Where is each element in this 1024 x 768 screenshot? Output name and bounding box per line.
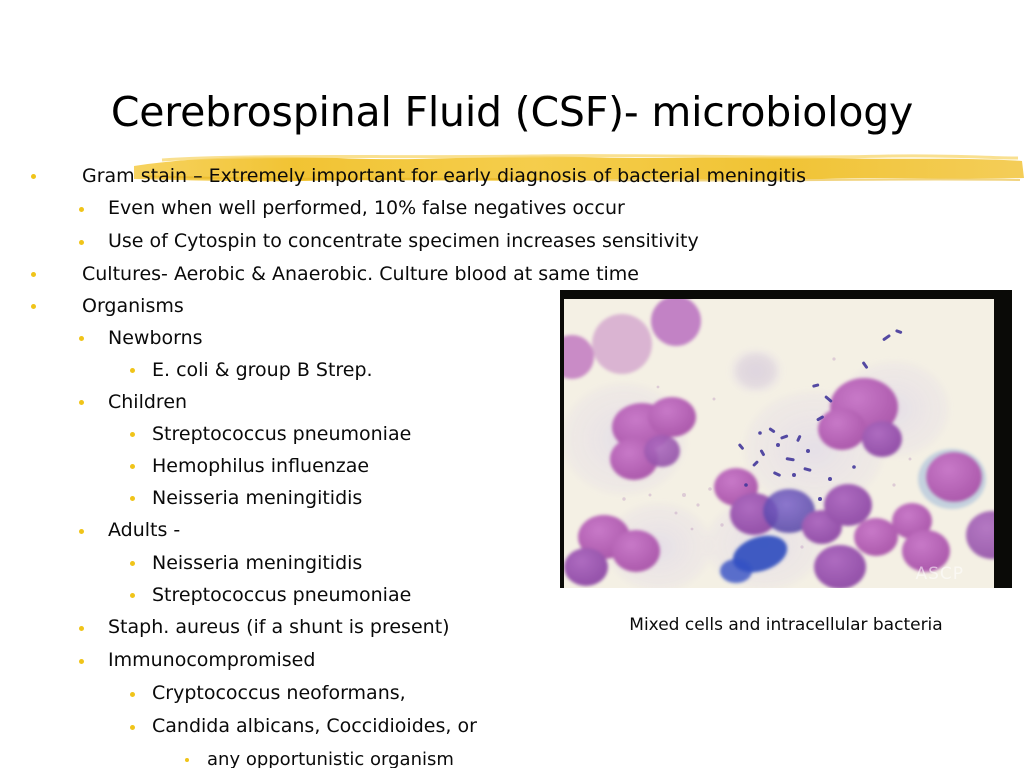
list-item-label: Even when well performed, 10% false nega… <box>108 192 625 225</box>
list-item-label: E. coli & group B Strep. <box>152 354 373 386</box>
list-item-label: Streptococcus pneumoniae <box>152 418 411 450</box>
bullet-dot-icon <box>130 692 135 697</box>
bullet-dot-icon <box>130 432 135 437</box>
bullet-dot-icon <box>31 304 36 309</box>
bullet-dot-icon <box>130 725 135 730</box>
list-item-label: Children <box>108 386 187 418</box>
list-item: Even when well performed, 10% false nega… <box>0 192 1024 225</box>
bullet-dot-icon <box>185 758 189 762</box>
bullet-dot-icon <box>79 400 84 405</box>
bullet-dot-icon <box>31 174 36 179</box>
bullet-dot-icon <box>79 336 84 341</box>
list-item-label: Immunocompromised <box>108 644 315 677</box>
bullet-dot-icon <box>130 593 135 598</box>
micrograph-figure: ASCP <box>560 290 1012 588</box>
bullet-dot-icon <box>79 659 84 664</box>
list-item: Cultures- Aerobic & Anaerobic. Culture b… <box>0 258 1024 290</box>
bullet-dot-icon <box>130 464 135 469</box>
list-item-label: any opportunistic organism <box>207 743 454 768</box>
list-item-label: Cryptococcus neoformans, <box>152 677 406 710</box>
slide-canvas: Cerebrospinal Fluid (CSF)- microbiology … <box>0 0 1024 768</box>
list-item-label: Cultures- Aerobic & Anaerobic. Culture b… <box>82 258 639 290</box>
bullet-dot-icon <box>130 561 135 566</box>
list-item-label: Hemophilus influenzae <box>152 450 369 482</box>
list-item-label: Neisseria meningitidis <box>152 547 362 579</box>
list-item-label: Adults - <box>108 514 180 547</box>
bullet-dot-icon <box>130 496 135 501</box>
figure-caption: Mixed cells and intracellular bacteria <box>560 615 1012 635</box>
list-item-label: Organisms <box>82 290 184 322</box>
list-item: Use of Cytospin to concentrate specimen … <box>0 225 1024 258</box>
list-item: Candida albicans, Coccidioides, or <box>0 710 1024 743</box>
bullet-dot-icon <box>130 368 135 373</box>
list-item-label: Candida albicans, Coccidioides, or <box>152 710 477 743</box>
list-item-label: Gram stain – Extremely important for ear… <box>82 160 806 192</box>
bullet-dot-icon <box>79 529 84 534</box>
list-item: Immunocompromised <box>0 644 1024 677</box>
page-title: Cerebrospinal Fluid (CSF)- microbiology <box>0 88 1024 136</box>
list-item-label: Streptococcus pneumoniae <box>152 579 411 611</box>
list-item: any opportunistic organism <box>0 743 1024 768</box>
bullet-dot-icon <box>79 240 84 245</box>
bullet-dot-icon <box>79 626 84 631</box>
bullet-dot-icon <box>31 272 36 277</box>
list-item: Gram stain – Extremely important for ear… <box>0 160 1024 192</box>
photo-frame: ASCP <box>560 290 1012 588</box>
bullet-dot-icon <box>79 207 84 212</box>
photo-watermark: ASCP <box>915 564 964 584</box>
list-item-label: Use of Cytospin to concentrate specimen … <box>108 225 699 258</box>
csf-micrograph-image: ASCP <box>564 299 994 588</box>
list-item-label: Newborns <box>108 322 203 354</box>
list-item: Cryptococcus neoformans, <box>0 677 1024 710</box>
list-item-label: Neisseria meningitidis <box>152 482 362 514</box>
list-item-label: Staph. aureus (if a shunt is present) <box>108 611 450 644</box>
